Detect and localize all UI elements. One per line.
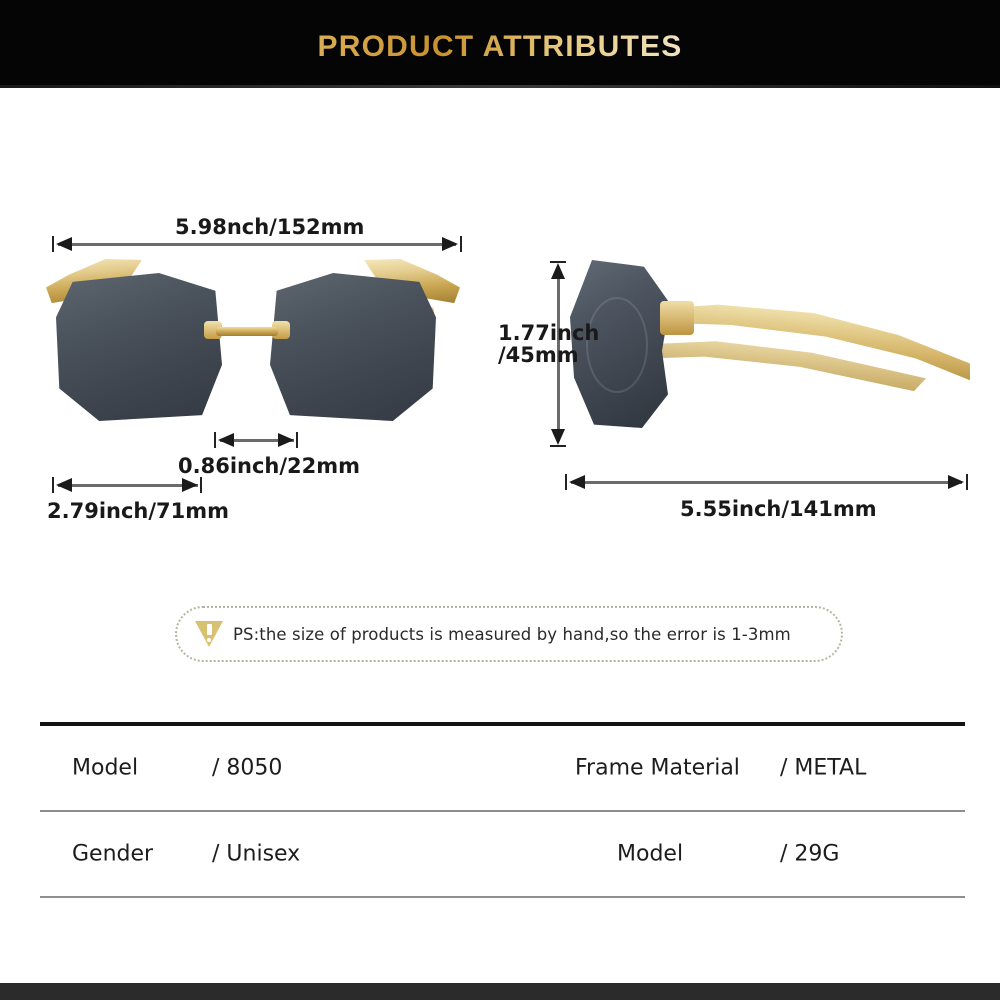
product-attributes-page: PRODUCT ATTRIBUTES 5.98nch/152mm 2.79inc… xyxy=(0,0,1000,1000)
height-arrow-left xyxy=(56,478,72,492)
width-dimension-line xyxy=(58,243,456,246)
table-row: Gender / Unisex Model / 29G xyxy=(40,812,965,896)
bridge-tick-left xyxy=(214,432,216,448)
label-temple-length: 5.55inch/141mm xyxy=(680,498,877,520)
page-title: PRODUCT ATTRIBUTES xyxy=(0,30,1000,64)
lens-right xyxy=(270,273,436,421)
bridge-arrow-left xyxy=(218,433,234,447)
cell-value-frame-material: / METAL xyxy=(780,756,866,781)
lens-left xyxy=(56,273,222,421)
label-bridge-width: 0.86inch/22mm xyxy=(178,455,360,477)
ps-note-box: PS:the size of products is measured by h… xyxy=(175,606,843,662)
spec-table: Model / 8050 Frame Material / METAL Gend… xyxy=(40,722,965,898)
header-divider xyxy=(0,85,1000,88)
cell-value-model: / 8050 xyxy=(212,756,282,781)
temple-length-tick-left xyxy=(565,474,567,490)
ps-note-text: PS:the size of products is measured by h… xyxy=(233,625,791,644)
cell-key-gender: Gender xyxy=(72,842,153,867)
temple-length-dimension-line xyxy=(571,481,962,484)
cell-key-model: Model xyxy=(72,756,138,781)
cell-key-frame-material: Frame Material xyxy=(575,756,740,781)
height-dimension-line xyxy=(58,484,198,487)
temple-length-tick-right xyxy=(966,474,968,490)
side-height-arrow-up xyxy=(551,263,565,279)
bridge-arrow-right xyxy=(278,433,294,447)
side-height-arrow-down xyxy=(551,429,565,445)
label-lens-height: 2.79inch/71mm xyxy=(47,500,229,522)
cell-key-weight: Model xyxy=(617,842,683,867)
height-tick-right xyxy=(200,477,202,493)
footer-bar xyxy=(0,983,1000,1000)
bridge xyxy=(216,327,278,336)
sunglasses-front-view xyxy=(38,255,468,435)
cell-value-weight: / 29G xyxy=(780,842,839,867)
temple-length-arrow-left xyxy=(569,475,585,489)
label-total-width: 5.98nch/152mm xyxy=(175,216,364,238)
height-arrow-right xyxy=(182,478,198,492)
table-row: Model / 8050 Frame Material / METAL xyxy=(40,726,965,810)
temple-length-arrow-right xyxy=(948,475,964,489)
cell-value-gender: / Unisex xyxy=(212,842,300,867)
hinge-side xyxy=(660,301,694,335)
warning-triangle-icon xyxy=(195,621,223,647)
side-height-tick-bottom xyxy=(550,445,566,447)
sunglasses-side-view xyxy=(570,255,975,435)
width-tick-right xyxy=(460,236,462,252)
label-side-lens-height: 1.77inch /45mm xyxy=(498,322,599,366)
width-arrow-right xyxy=(442,237,458,251)
height-tick-left xyxy=(52,477,54,493)
table-bottom-border xyxy=(40,896,965,898)
width-tick-left xyxy=(52,236,54,252)
bridge-tick-right xyxy=(296,432,298,448)
width-arrow-left xyxy=(56,237,72,251)
